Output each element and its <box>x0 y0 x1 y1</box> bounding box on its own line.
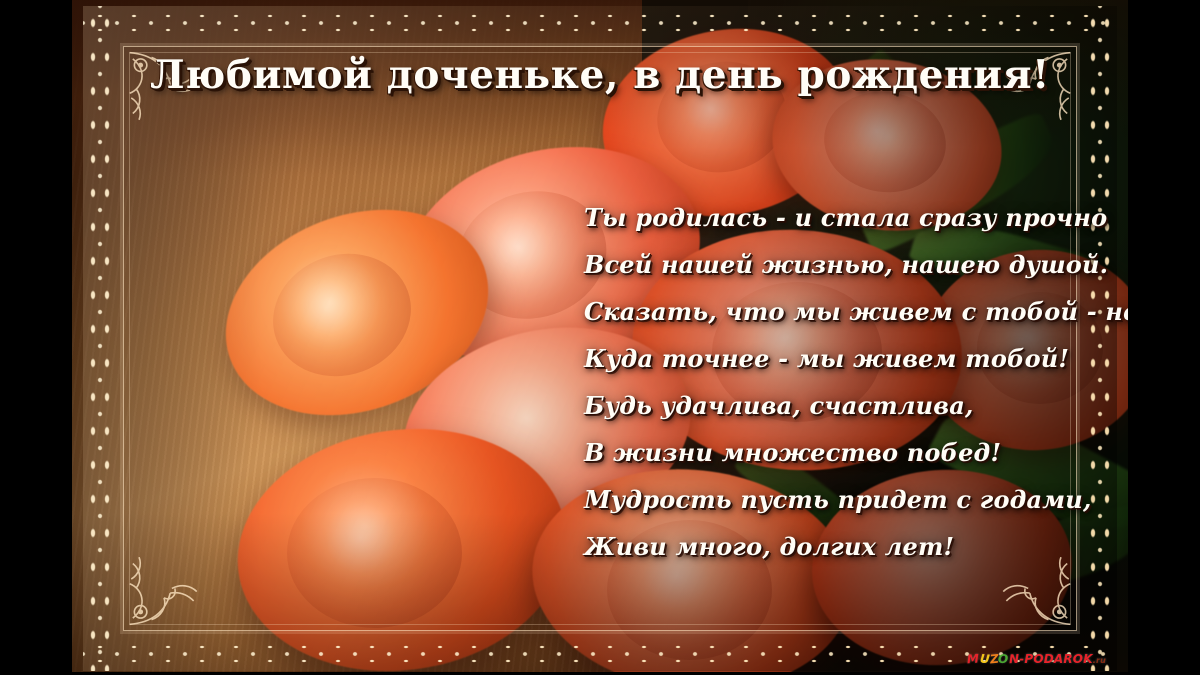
watermark-letter-n: N <box>1009 652 1020 667</box>
poem-line: Будь удачлива, счастлива, <box>584 382 1128 429</box>
letterbox-bar-right <box>1128 0 1200 675</box>
card-canvas: Любимой доченьке, в день рождения! Ты ро… <box>72 0 1128 675</box>
rose-petal-swirl <box>287 478 462 628</box>
watermark-tld: .ru <box>1093 656 1106 665</box>
watermark-suffix: -PODAROK <box>1019 652 1093 666</box>
greeting-card-image: Любимой доченьке, в день рождения! Ты ро… <box>0 0 1200 675</box>
poem-line: Сказать, что мы живем с тобой - неточно, <box>584 288 1128 335</box>
poem-line: Всей нашей жизнью, нашею душой. <box>584 241 1128 288</box>
poem-line: В жизни множество побед! <box>584 429 1128 476</box>
poem-line: Куда точнее - мы живем тобой! <box>584 335 1128 382</box>
poem-text-block: Ты родилась - и стала сразу прочно Всей … <box>584 194 1128 570</box>
letterbox-bar-left <box>0 0 72 675</box>
site-watermark: MUZON-PODAROK.ru <box>967 652 1106 666</box>
card-title: Любимой доченьке, в день рождения! <box>72 52 1128 98</box>
poem-line: Ты родилась - и стала сразу прочно <box>584 194 1128 241</box>
watermark-letter-m: M <box>967 652 980 667</box>
watermark-letter-o: O <box>998 652 1009 667</box>
poem-line: Живи много, долгих лет! <box>584 523 1128 570</box>
poem-line: Мудрость пусть придет с годами, <box>584 476 1128 523</box>
